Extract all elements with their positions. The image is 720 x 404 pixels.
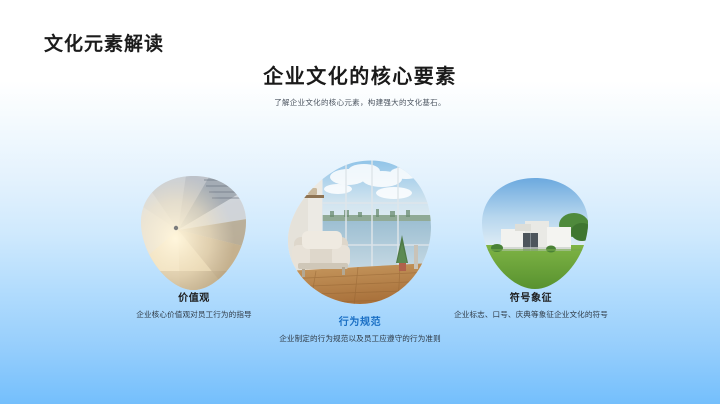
card-caption-symbols: 符号象征 企业标志、口号、庆典等象征企业文化的符号 — [443, 292, 619, 320]
lakeside-living-room-interior-photo — [286, 159, 432, 306]
card-image-values[interactable] — [140, 175, 247, 291]
page-title: 文化元素解读 — [44, 29, 164, 56]
card-description-values: 企业核心价值观对员工行为的指导 — [112, 309, 276, 320]
card-title-symbols: 符号象征 — [443, 292, 619, 307]
card-title-values: 价值观 — [112, 292, 276, 307]
slide-canvas: 文化元素解读 企业文化的核心要素 了解企业文化的核心元素，构建强大的文化基石。 — [0, 0, 720, 404]
card-description-symbols: 企业标志、口号、庆典等象征企业文化的符号 — [443, 309, 619, 320]
section-heading: 企业文化的核心要素 — [0, 60, 720, 89]
card-image-symbols[interactable] — [481, 177, 589, 290]
card-caption-values: 价值观 企业核心价值观对员工行为的指导 — [112, 292, 276, 320]
section-subheading: 了解企业文化的核心元素，构建强大的文化基石。 — [0, 97, 720, 108]
modern-architecture-sunburst-photo — [140, 175, 247, 291]
card-image-norms[interactable] — [286, 159, 432, 306]
white-modern-house-lawn-photo — [481, 177, 589, 290]
card-caption-norms: 行为规范 企业制定的行为规范以及员工应遵守的行为准则 — [272, 316, 448, 344]
card-description-norms: 企业制定的行为规范以及员工应遵守的行为准则 — [272, 333, 448, 344]
card-title-norms: 行为规范 — [272, 316, 448, 331]
